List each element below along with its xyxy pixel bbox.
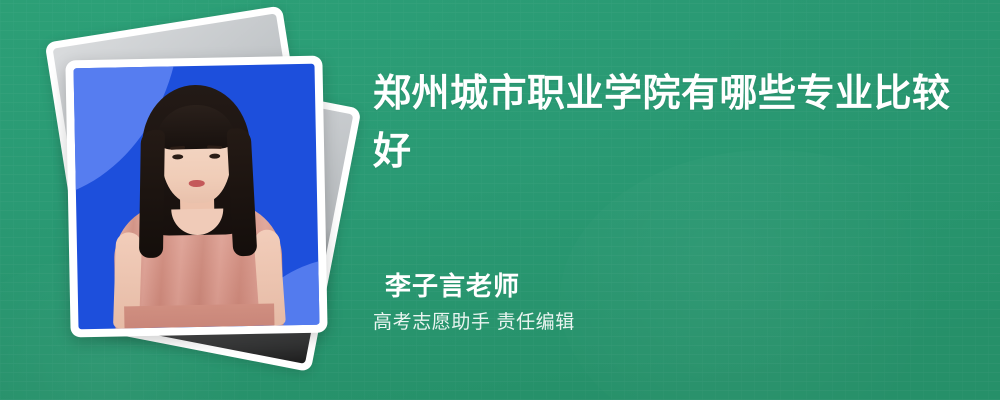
hair-strand-left <box>138 130 164 258</box>
article-title: 郑州城市职业学院有哪些专业比较好 <box>373 66 953 182</box>
author-id-photo <box>74 64 320 330</box>
text-column: 郑州城市职业学院有哪些专业比较好 李子言老师 高考志愿助手 责任编辑 <box>373 0 973 400</box>
eye-right <box>209 154 220 159</box>
author-role: 高考志愿助手 责任编辑 <box>373 311 575 336</box>
photo-stack <box>40 20 340 380</box>
eye-left <box>172 154 183 159</box>
lips <box>188 180 204 187</box>
author-photo-card <box>65 56 327 338</box>
author-block: 李子言老师 高考志愿助手 责任编辑 <box>385 270 575 336</box>
portrait-body <box>109 101 285 329</box>
dress-waistband <box>124 304 274 329</box>
article-cover-card: 郑州城市职业学院有哪些专业比较好 李子言老师 高考志愿助手 责任编辑 <box>0 0 1000 400</box>
author-name: 李子言老师 <box>385 270 575 303</box>
portrait-figure <box>74 100 319 329</box>
